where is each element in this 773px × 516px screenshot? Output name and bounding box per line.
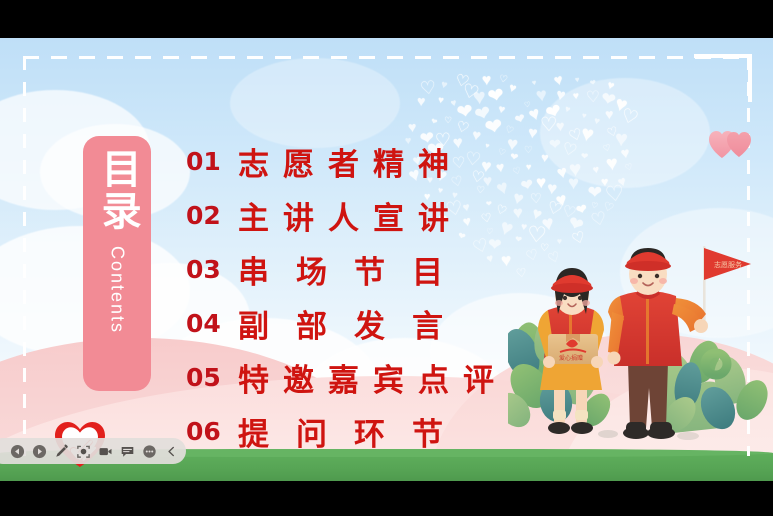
toc-number: 06	[186, 417, 238, 446]
mini-heart-icon: ♥	[592, 164, 600, 175]
toc-item-05[interactable]: 05 特邀嘉宾点评	[186, 350, 516, 404]
toc-number: 01	[186, 147, 238, 176]
pen-annotate-button[interactable]	[50, 440, 72, 462]
mini-heart-icon: ♡	[524, 146, 533, 156]
menu-title-cn: 目录	[95, 148, 138, 232]
toc-number: 03	[186, 255, 238, 284]
toc-title: 提问环节	[238, 409, 470, 454]
mini-heart-icon: ♥	[437, 96, 444, 106]
mini-heart-icon: ♥	[535, 85, 548, 105]
mini-heart-icon: ♥	[555, 88, 567, 105]
subtitles-button[interactable]	[116, 440, 138, 462]
toc-item-02[interactable]: 02 主讲人宣讲	[186, 188, 516, 242]
mini-heart-icon: ❤	[549, 136, 561, 151]
toc-number: 04	[186, 309, 238, 338]
mini-heart-icon: ♥	[614, 128, 628, 150]
mini-heart-icon: ♡	[602, 143, 612, 154]
mini-heart-icon: ♡	[602, 201, 616, 215]
mini-heart-icon: ♥	[593, 116, 601, 127]
mini-heart-icon: ♥	[564, 104, 572, 114]
frame-top-dashes	[23, 56, 750, 59]
presentation-screen: ♥♡♥❤♥♡♥♡♥❤♥♡♥♡♥❤♥♡♥♡♥❤♥♡♥♡♥❤♥♡♥♡♥❤♥♡♥♡♥❤…	[0, 0, 773, 516]
frame-corner-top-right	[694, 54, 752, 102]
toc-item-06[interactable]: 06 提问环节	[186, 404, 516, 458]
mini-heart-icon: ♥	[439, 79, 448, 91]
mini-heart-icon: ♡	[619, 106, 641, 129]
toc-title: 串场节目	[238, 247, 470, 292]
slide-canvas: ♥♡♥❤♥♡♥♡♥❤♥♡♥♡♥❤♥♡♥♡♥❤♥♡♥♡♥❤♥♡♥♡♥❤♥♡♥♡♥❤…	[0, 38, 773, 481]
laser-pointer-button[interactable]	[72, 440, 94, 462]
mini-heart-icon: ♥	[536, 173, 547, 190]
mini-heart-icon: ♥	[507, 81, 518, 95]
prev-slide-button[interactable]	[6, 440, 28, 462]
mini-heart-icon: ♡	[586, 90, 601, 106]
mini-heart-icon: ♥	[531, 79, 537, 87]
table-of-contents: 01 志愿者精神 02 主讲人宣讲 03 串场节目 04 副部发言 05 特邀嘉…	[186, 134, 516, 458]
collapse-toolbar-button[interactable]	[160, 440, 182, 462]
mini-heart-icon: ♥	[526, 163, 532, 172]
svg-text:爱心捐赠: 爱心捐赠	[559, 354, 583, 362]
mini-heart-icon: ♥	[407, 120, 416, 135]
mini-heart-icon: ♡	[498, 75, 508, 86]
toc-item-04[interactable]: 04 副部发言	[186, 296, 516, 350]
toc-number: 02	[186, 201, 238, 230]
toc-title: 主讲人宣讲	[238, 193, 463, 238]
presentation-toolbar[interactable]	[0, 438, 186, 464]
toc-title: 副部发言	[238, 301, 470, 346]
record-video-button[interactable]	[94, 440, 116, 462]
mini-heart-icon: ♥	[568, 174, 579, 193]
mini-heart-icon: ♥	[472, 86, 486, 108]
red-flag-icon: 志愿服务	[703, 246, 751, 322]
volunteer-illustration: 志愿服务	[508, 234, 773, 459]
next-slide-button[interactable]	[28, 440, 50, 462]
toc-title: 特邀嘉宾点评	[238, 355, 508, 400]
donation-box: 爱心捐赠	[548, 334, 598, 364]
mini-heart-icon: ♡	[530, 192, 543, 206]
mini-heart-icon: ❤	[581, 152, 589, 161]
toc-title: 志愿者精神	[238, 139, 463, 184]
mini-heart-icon: ♥	[581, 111, 587, 119]
mini-heart-icon: ♥	[573, 92, 580, 103]
toc-item-01[interactable]: 01 志愿者精神	[186, 134, 516, 188]
mini-heart-icon: ♡	[444, 116, 452, 125]
mini-heart-icon: ♥	[541, 152, 549, 165]
more-options-button[interactable]	[138, 440, 160, 462]
mini-heart-icon: ♥	[601, 176, 609, 189]
mini-heart-icon: ♡	[540, 116, 558, 136]
toc-number: 05	[186, 363, 238, 392]
toc-item-03[interactable]: 03 串场节目	[186, 242, 516, 296]
mini-heart-icon: ❤	[514, 111, 528, 126]
menu-tab[interactable]: 目录 Contents	[83, 136, 151, 391]
twin-hearts-icon	[708, 126, 754, 160]
mini-heart-icon: ❤	[588, 184, 602, 201]
mini-heart-icon: ❤	[456, 102, 475, 124]
menu-title-en: Contents	[107, 246, 128, 334]
svg-text:志愿服务: 志愿服务	[714, 260, 742, 269]
mini-heart-icon: ❤	[589, 79, 596, 87]
mini-heart-icon: ♥	[527, 125, 539, 142]
mini-heart-icon: ♥	[605, 154, 619, 175]
mini-heart-icon: ♥	[497, 104, 506, 117]
mini-heart-icon: ♥	[574, 76, 579, 84]
mini-heart-icon: ♡	[624, 162, 634, 173]
mini-heart-icon: ♡	[419, 78, 437, 98]
mini-heart-icon: ❤	[430, 117, 438, 126]
